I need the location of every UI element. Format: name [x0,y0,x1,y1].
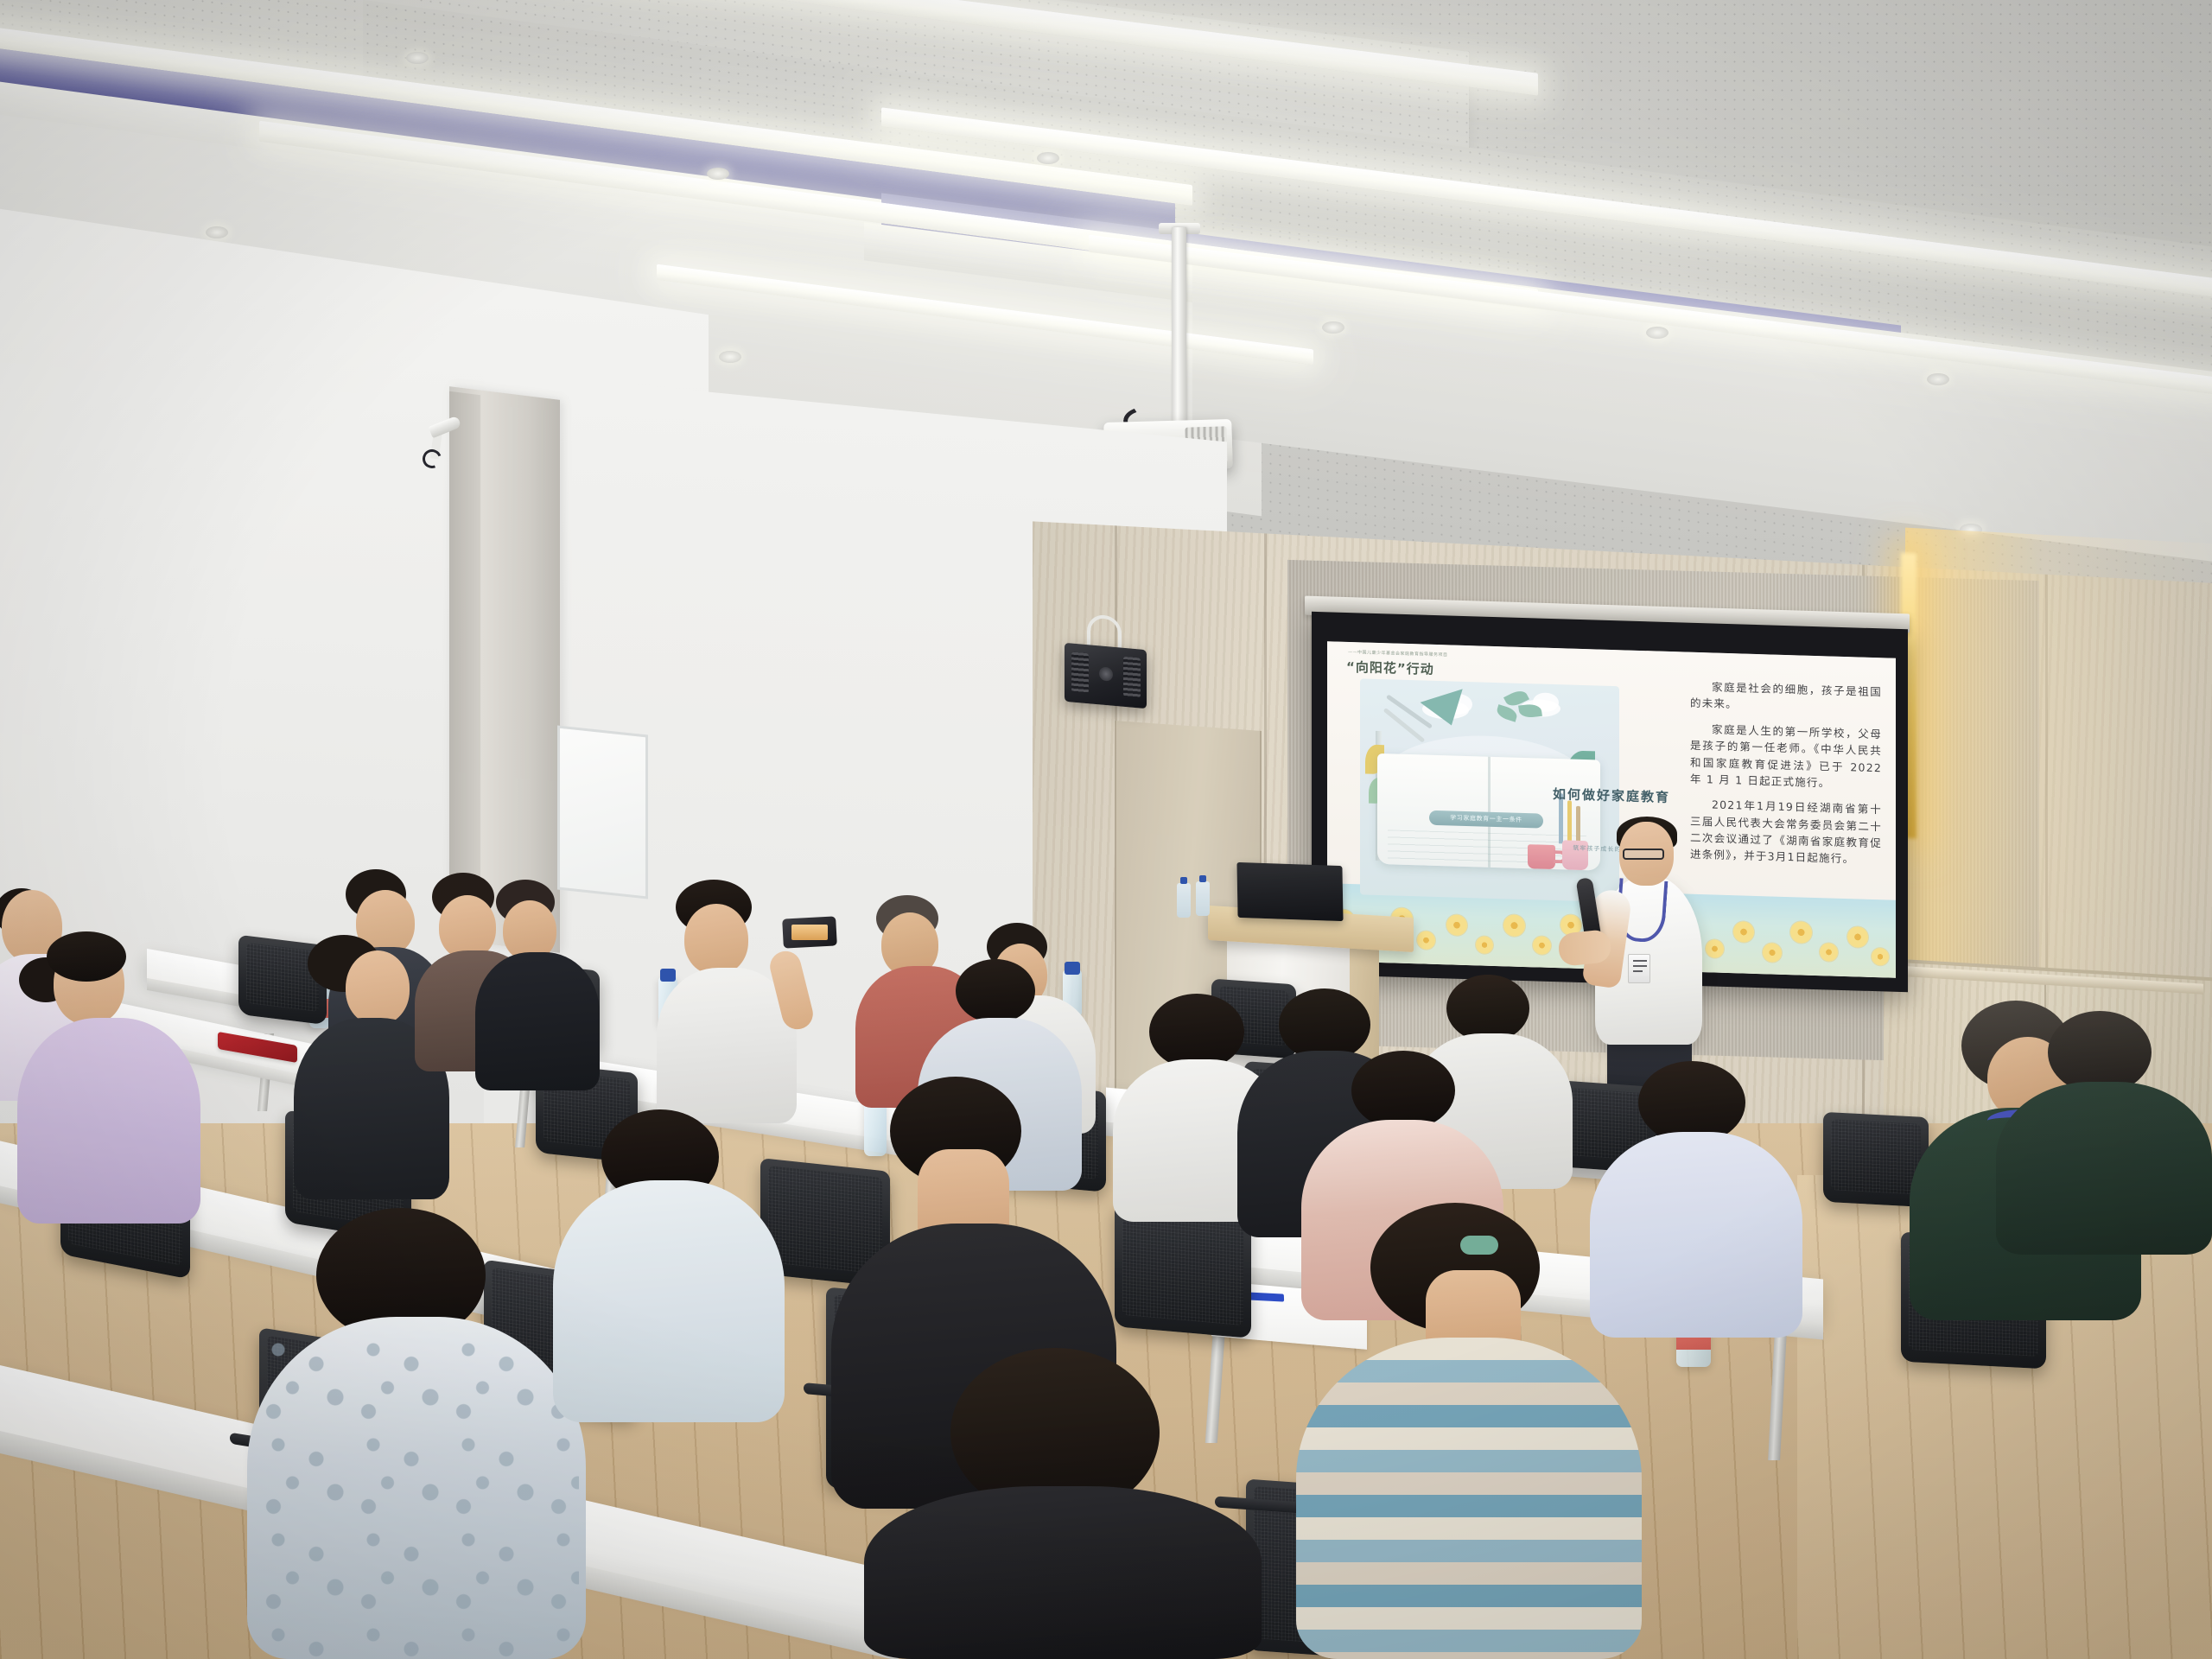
wall-speaker [1065,643,1147,709]
hair-tie [1460,1236,1498,1255]
head [684,904,748,975]
slide-pencil-icon [1567,800,1572,843]
projector-mount-pole [1172,227,1186,422]
downlight-icon [206,226,228,238]
slide-logo-subtitle: ——中国儿童少年基金会家庭教育指导服务项目 [1348,649,1448,658]
torso [1590,1132,1802,1338]
hair [1149,994,1244,1070]
downlight-icon [1646,327,1669,339]
torso [553,1180,785,1422]
lectern-water-bottle[interactable] [1177,883,1191,918]
downlight-icon [406,52,429,64]
downlight-icon [1037,152,1059,164]
downlight-icon [1927,373,1949,385]
slide-logo: “向阳花”行动 [1346,658,1434,678]
head [346,950,410,1025]
downlight-icon [1322,321,1344,334]
downlight-icon [719,351,741,363]
wall-uplight-glow [1905,528,2212,1028]
torso-striped-shirt [1296,1338,1642,1659]
head [439,895,496,959]
slide-body-text: 家庭是社会的细胞，孩子是祖国的未来。 家庭是人生的第一所学校，父母是孩子的第一任… [1690,678,1882,877]
torso [475,952,600,1090]
downlight-icon [707,168,729,180]
lectern-water-bottle[interactable] [1196,881,1210,916]
hair [47,931,126,982]
slide-paragraph-1: 家庭是社会的细胞，孩子是祖国的未来。 [1690,678,1882,717]
torso [1996,1082,2212,1255]
hair [956,959,1035,1023]
structural-column-edge [449,391,480,948]
presenter-id-badge [1628,954,1650,983]
torso [864,1486,1262,1659]
chair[interactable] [1115,1202,1251,1338]
training-room-photo: ——中国儿童少年基金会家庭教育指导服务项目 “向阳花”行动 如何做好家庭教育 学… [0,0,2212,1659]
slide-paragraph-2: 家庭是人生的第一所学校，父母是孩子的第一任老师。《中华人民共和国家庭教育促进法》… [1690,720,1882,792]
phone-screen [791,925,828,940]
whiteboard [557,725,648,899]
presenter-glasses [1623,849,1664,860]
slide-pencil-icon [1576,806,1580,844]
slide-paragraph-3: 2021年1月19日经湖南省第十三届人民代表大会常务委员会第二十二次会议通过了《… [1690,796,1882,868]
hair-bun [1351,1051,1455,1130]
shirt-pattern [259,1331,579,1659]
hair-bun [1446,975,1529,1042]
torso [17,1018,200,1224]
lectern-laptop[interactable] [1236,862,1343,921]
